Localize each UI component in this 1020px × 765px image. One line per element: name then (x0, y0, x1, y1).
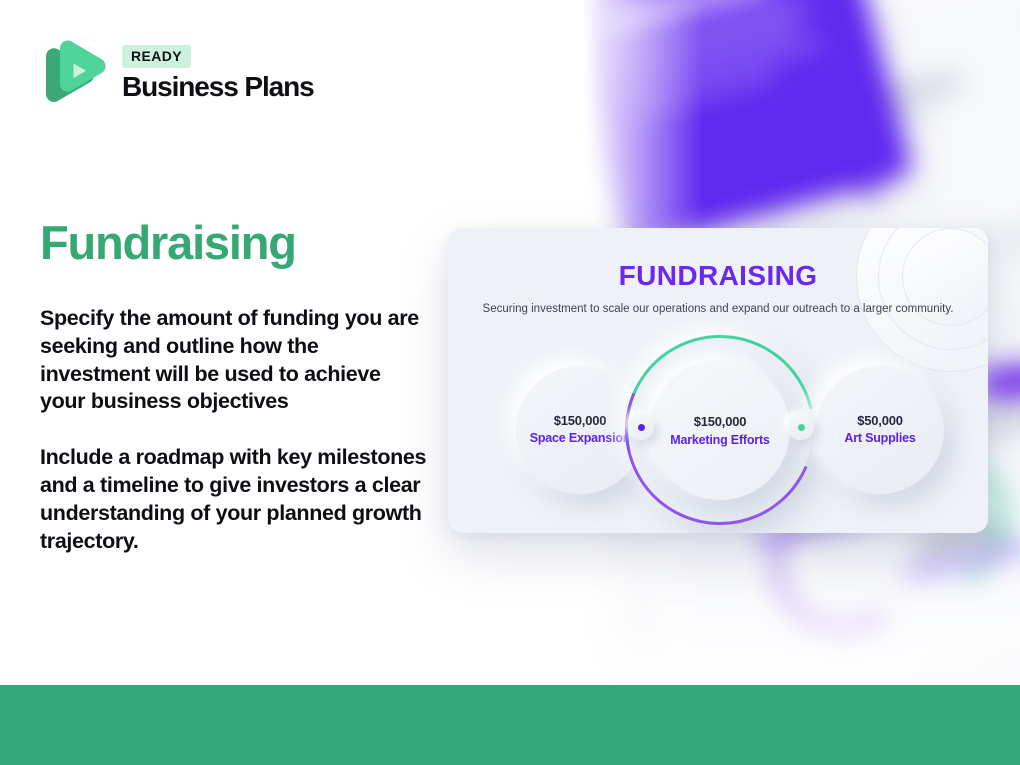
fundraising-card: FUNDRAISING Securing investment to scale… (448, 228, 988, 533)
funding-amount: $150,000 (554, 414, 607, 428)
dot-glyph (798, 424, 805, 431)
brand-logo: READY Business Plans (40, 38, 314, 110)
page-title: Fundraising (40, 215, 296, 270)
connector-dot-left (628, 414, 654, 440)
funding-amount: $150,000 (694, 414, 747, 429)
funding-label: Space Expansion (530, 432, 631, 446)
body-copy: Specify the amount of funding you are se… (40, 305, 430, 555)
funding-breakdown-diagram: $150,000 Space Expansion $150,000 Market… (448, 228, 988, 533)
brand-logo-text: READY Business Plans (122, 45, 314, 103)
play-triangle-logo-icon (40, 38, 108, 110)
funding-item-art-supplies[interactable]: $50,000 Art Supplies (816, 366, 944, 494)
center-circle-disc: $150,000 Marketing Efforts (650, 360, 790, 500)
connector-dot-right (788, 414, 814, 440)
funding-amount: $50,000 (857, 414, 903, 428)
footer-bar (0, 685, 1020, 765)
slide-root: READY Business Plans Fundraising Specify… (0, 0, 1020, 765)
brand-wordmark: Business Plans (122, 71, 314, 103)
funding-label: Art Supplies (844, 432, 915, 446)
background-fade-bottom (583, 535, 1020, 685)
body-paragraph-1: Specify the amount of funding you are se… (40, 305, 430, 416)
funding-item-marketing-efforts[interactable]: $150,000 Marketing Efforts (628, 338, 812, 522)
dot-glyph (638, 424, 645, 431)
funding-label: Marketing Efforts (670, 433, 769, 447)
ready-badge: READY (122, 45, 191, 68)
body-paragraph-2: Include a roadmap with key milestones an… (40, 444, 430, 555)
